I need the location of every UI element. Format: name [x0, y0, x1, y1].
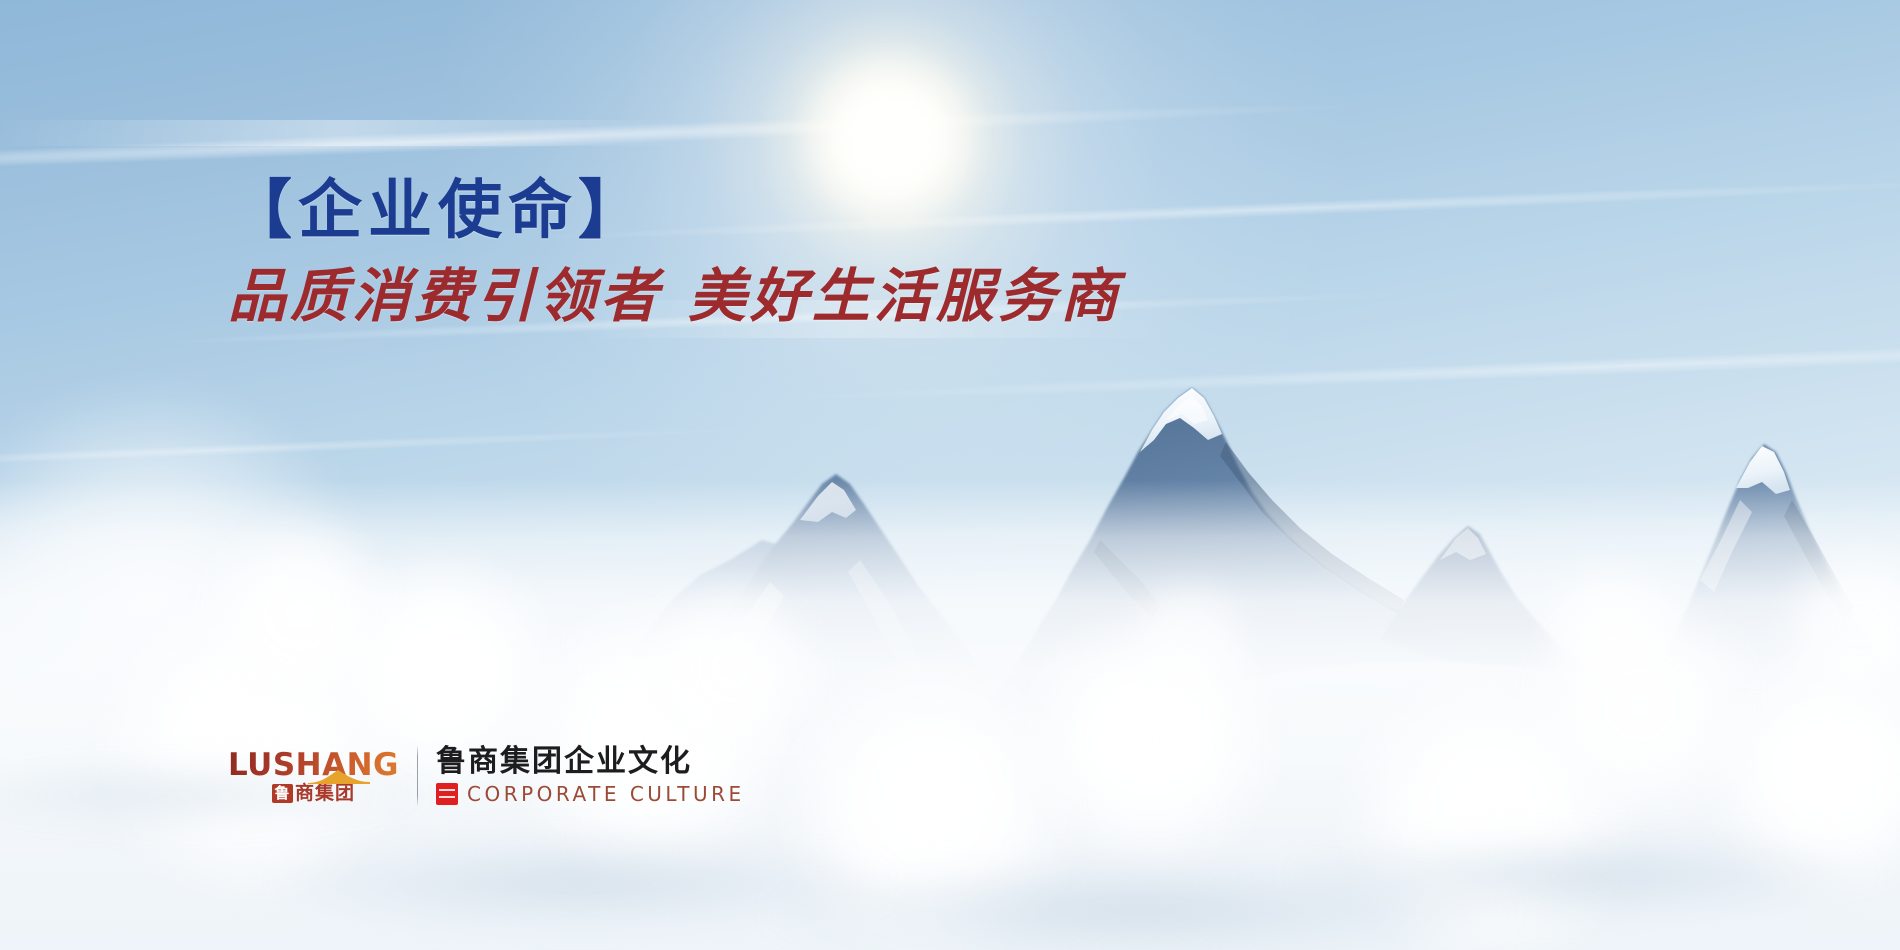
lushang-chinese-rest: 商集团 [295, 784, 355, 803]
lockup-divider [417, 745, 418, 807]
lushang-wordmark: LUSHANG [228, 750, 399, 781]
seal-stamp-icon [436, 783, 458, 805]
corporate-culture-english: CORPORATE CULTURE [467, 784, 745, 804]
corporate-culture-block[interactable]: 鲁商集团企业文化 CORPORATE CULTURE [436, 747, 745, 805]
swoosh-icon [308, 770, 370, 784]
lushang-brand-block[interactable]: LUSHANG 鲁 商集团 [228, 750, 399, 803]
slogan-part-2: 美好生活服务商 [688, 262, 1122, 330]
corporate-culture-chinese: 鲁商集团企业文化 [436, 747, 745, 777]
slogan-part-1: 品质消费引领者 [228, 262, 662, 330]
headline-block: 【企业使命】 品质消费引领者美好生活服务商 [228, 178, 1128, 329]
mission-slogan: 品质消费引领者美好生活服务商 [228, 265, 1128, 329]
page-title: 【企业使命】 [228, 178, 1128, 245]
lushang-chinese-name: 鲁 商集团 [272, 784, 355, 803]
cirrus-cloud-streaks [0, 0, 1900, 950]
poster-canvas: 【企业使命】 品质消费引领者美好生活服务商 LUSHANG 鲁 商集团 鲁商集团… [0, 0, 1900, 950]
logo-lockup[interactable]: LUSHANG 鲁 商集团 鲁商集团企业文化 CORPORATE CULTURE [228, 745, 745, 807]
corporate-culture-english-row: CORPORATE CULTURE [436, 783, 745, 805]
lushang-seal-character: 鲁 [272, 784, 293, 803]
